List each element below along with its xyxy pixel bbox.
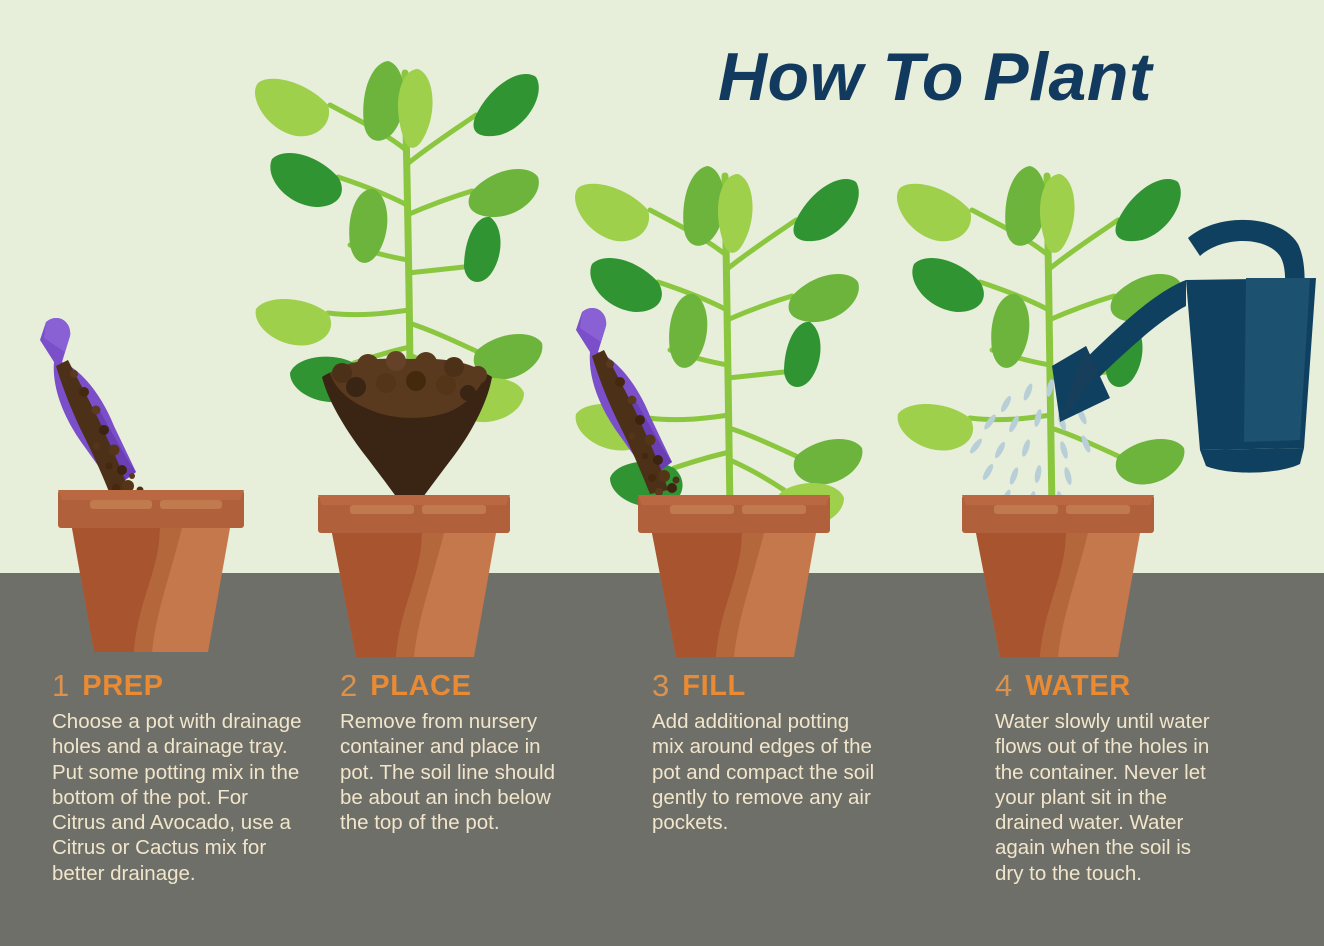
step-body-2: Remove from nursery container and place … [340,709,568,835]
step-body-4: Water slowly until water flows out of th… [995,709,1217,886]
flower-pot-icon [638,495,830,657]
illustration-step-4 [900,160,1320,660]
leaf [912,258,984,312]
leaf [898,404,973,451]
step-heading-3: 3FILL [652,670,884,702]
step-number-1: 1 [52,670,69,702]
leaf [991,294,1029,368]
leaf [469,169,539,217]
step-block-2: 2PLACE Remove from nursery container and… [340,670,568,835]
flower-pot-icon [58,490,244,652]
leaf [256,299,331,346]
step-block-4: 4WATER Water slowly until water flows ou… [995,670,1217,886]
leaf [669,294,707,368]
leaf [1116,439,1185,485]
step-number-4: 4 [995,670,1012,702]
leaf [1115,179,1180,241]
step-heading-2: 2PLACE [340,670,568,702]
soil-stream-icon [56,360,144,506]
step-number-2: 2 [340,670,357,702]
leaf [789,274,859,322]
leaf [718,174,753,253]
leaf [363,61,404,141]
flower-pot-icon [962,495,1154,657]
leaf [575,184,649,241]
leaf [1005,166,1046,246]
leaf [1040,174,1075,253]
flower-pot-icon [318,495,510,657]
illustration-step-2 [250,55,580,665]
leaf [473,74,538,136]
plant-icon [575,166,862,527]
illustration-step-3 [560,160,910,660]
page-title: How To Plant [690,38,1180,116]
infographic-canvas: How To Plant [0,0,1324,946]
step-label-1: PREP [82,670,163,702]
leaf [897,184,971,241]
leaf [349,189,387,263]
step-body-1: Choose a pot with drainage holes and a d… [52,709,302,886]
watering-can-icon [1052,220,1316,473]
leaf [270,153,342,207]
step-label-4: WATER [1025,670,1131,702]
step-number-3: 3 [652,670,669,702]
leaf [398,69,433,148]
leaf [255,79,329,136]
step-label-2: PLACE [370,670,471,702]
step-heading-4: 4WATER [995,670,1217,702]
leaf [794,439,863,485]
leaf [590,258,662,312]
step-block-3: 3FILL Add additional potting mix around … [652,670,884,835]
step-label-3: FILL [682,670,746,702]
step-heading-1: 1PREP [52,670,302,702]
leaf [793,179,858,241]
leaf [464,217,501,282]
leaf [784,322,821,387]
step-body-3: Add additional potting mix around edges … [652,709,884,835]
step-block-1: 1PREP Choose a pot with drainage holes a… [52,670,302,886]
leaf [683,166,724,246]
